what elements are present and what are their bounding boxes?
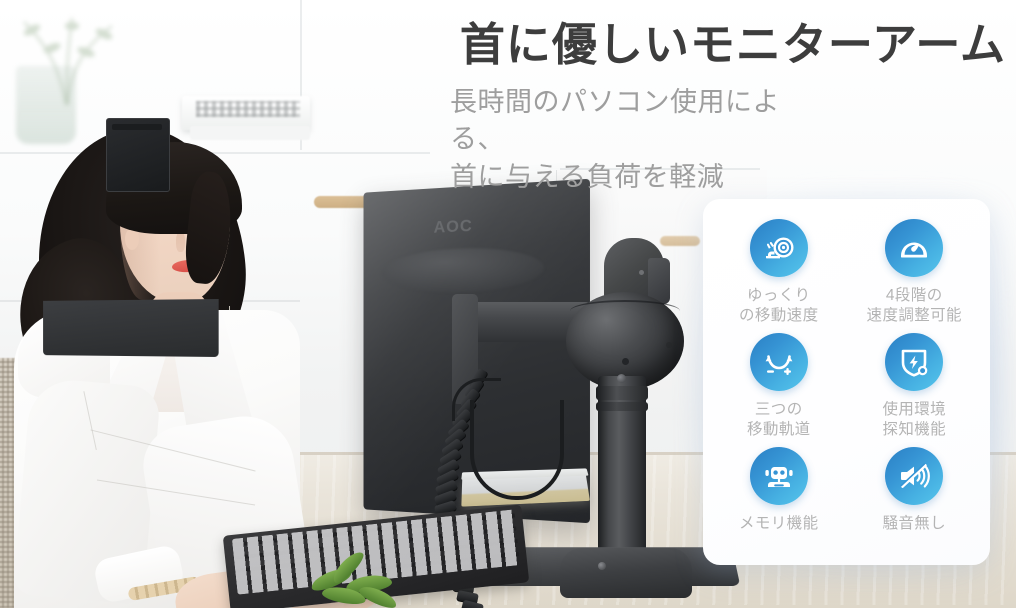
feature-label: 使用環境 探知機能 — [882, 400, 946, 440]
feature-item-slow-speed[interactable]: ゆっくり の移動速度 — [711, 213, 847, 327]
mute-speaker-icon — [885, 447, 943, 505]
subtitle-line-1: 長時間のパソコン使用による、 — [450, 84, 810, 159]
monitor-lower-back — [43, 299, 219, 357]
feature-item-speed-levels[interactable]: 4段階の 速度調整可能 — [847, 213, 983, 327]
nose — [176, 232, 185, 252]
ball-joint-port — [666, 342, 672, 348]
robot-icon — [750, 447, 808, 505]
page-subtitle: 長時間のパソコン使用による、 首に与える負荷を軽減 — [450, 84, 810, 196]
feature-item-movement-tracks[interactable]: 三つの 移動軌道 — [711, 327, 847, 441]
desk-plant — [300, 556, 420, 608]
feature-label: 三つの 移動軌道 — [747, 400, 811, 440]
screw — [617, 374, 626, 383]
feature-grid: ゆっくり の移動速度 4段階の 速度調整可能 — [703, 199, 990, 565]
ball-joint-port — [622, 358, 629, 365]
feature-label: メモリ機能 — [739, 514, 819, 534]
snail-icon — [750, 219, 808, 277]
screw — [598, 562, 606, 570]
screw — [639, 270, 644, 275]
plant-stems-icon — [8, 0, 158, 110]
monitor-arm-base — [560, 548, 692, 598]
cable — [470, 400, 564, 500]
monitor-brand-logo: AOC — [434, 215, 488, 237]
arc-adjust-icon — [750, 333, 808, 391]
speedometer-icon — [885, 219, 943, 277]
chain-link — [461, 600, 484, 608]
feature-item-environment-detection[interactable]: 使用環境 探知機能 — [847, 327, 983, 441]
shelf-book-text — [196, 101, 300, 117]
feature-label: 4段階の 速度調整可能 — [867, 286, 962, 326]
feature-item-memory-function[interactable]: メモリ機能 — [711, 441, 847, 555]
feature-item-no-noise[interactable]: 騒音無し — [847, 441, 983, 555]
pole-collar — [596, 402, 648, 411]
vesa-bar — [112, 124, 162, 130]
feature-label: 騒音無し — [882, 514, 946, 534]
pole-collar — [596, 386, 648, 400]
page-title: 首に優しいモニターアーム — [450, 20, 1006, 70]
ball-joint-seam — [570, 300, 680, 322]
feature-label: ゆっくり の移動速度 — [739, 286, 819, 326]
shield-bolt-icon — [885, 333, 943, 391]
advertisement-banner: AOC — [0, 0, 1016, 608]
